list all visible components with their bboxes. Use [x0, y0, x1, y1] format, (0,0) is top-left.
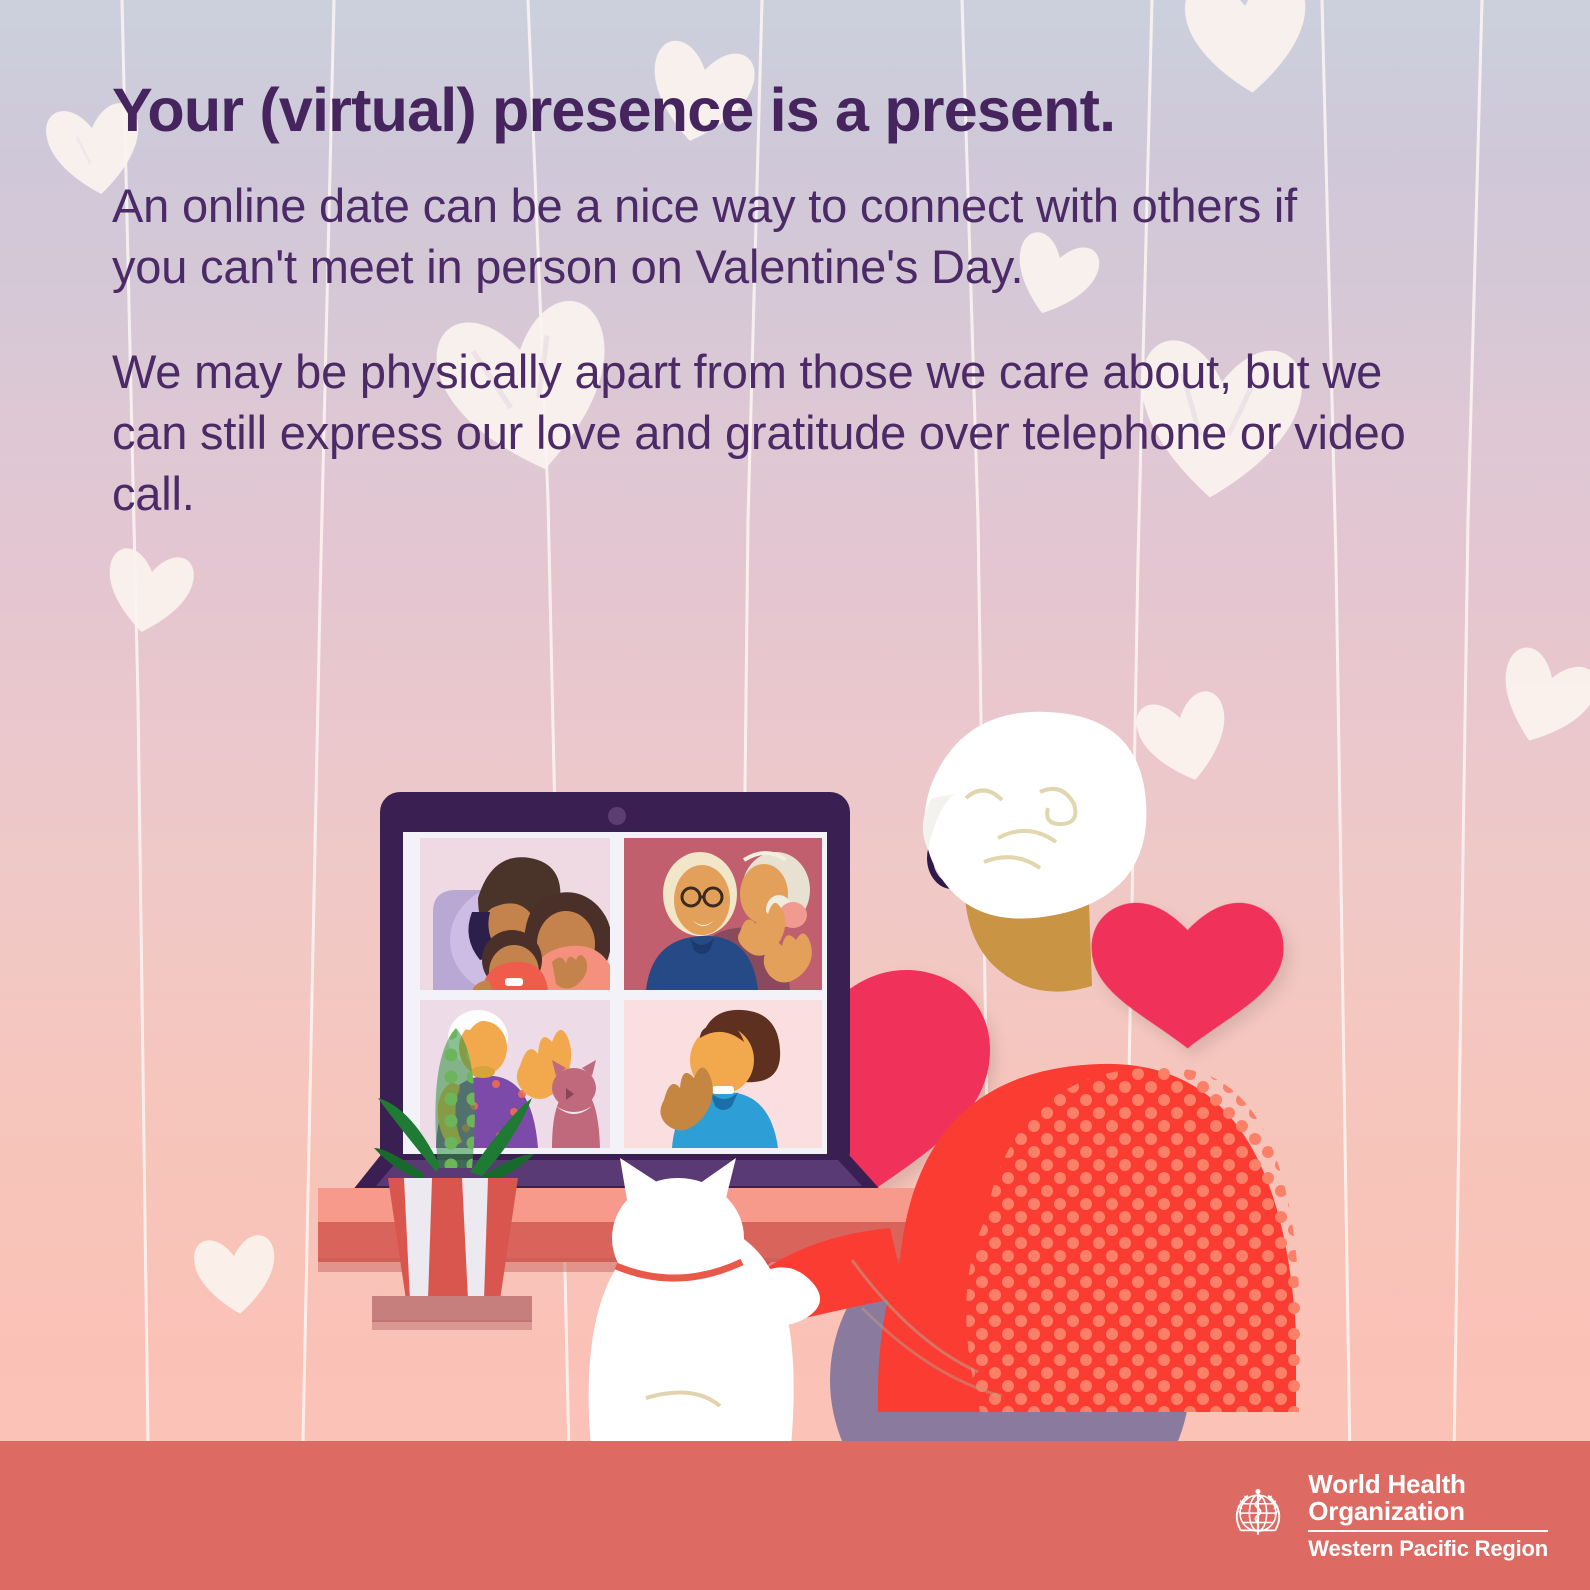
text-block: Your (virtual) presence is a present. An…: [112, 78, 1472, 524]
paragraph-1: An online date can be a nice way to conn…: [112, 175, 1372, 297]
webcam-dot: [608, 807, 626, 825]
who-region: Western Pacific Region: [1308, 1536, 1548, 1562]
paragraph-2: We may be physically apart from those we…: [112, 341, 1432, 524]
illustration: [0, 560, 1590, 1490]
laptop: [348, 792, 886, 1196]
heart-small-right: [1092, 903, 1284, 1049]
video-tile-family-sofa: [420, 838, 618, 999]
who-emblem-icon: [1222, 1480, 1294, 1552]
who-line-1: World Health: [1308, 1471, 1548, 1498]
video-tile-elderly-couple: [624, 838, 822, 990]
who-divider: [1308, 1530, 1548, 1532]
video-tile-boy-waving: [624, 1000, 822, 1148]
poster-canvas: Your (virtual) presence is a present. An…: [0, 0, 1590, 1590]
who-logo: World Health Organization Western Pacifi…: [1222, 1471, 1548, 1562]
page-title: Your (virtual) presence is a present.: [112, 78, 1472, 143]
who-line-2: Organization: [1308, 1498, 1548, 1525]
